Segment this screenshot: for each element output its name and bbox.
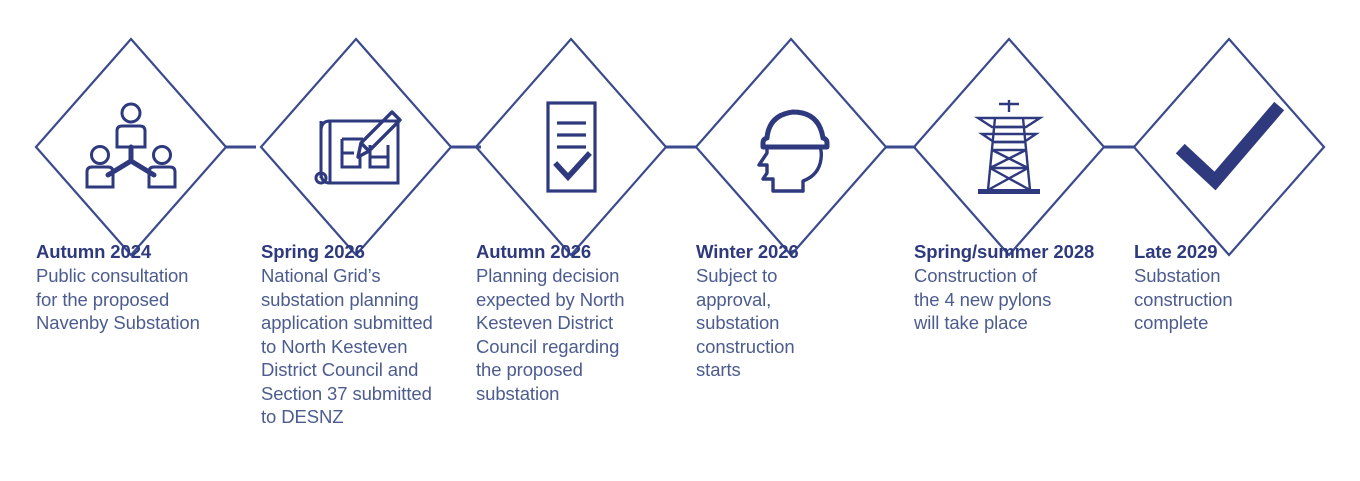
milestone-body: Subject to approval, substation construc… [696,264,896,382]
milestone-diamond [30,33,256,261]
timeline-milestone: Spring/summer 2028 Construction of the 4… [908,0,1134,481]
timeline-milestone: Spring 2026 National Grid’s substation p… [255,0,481,481]
milestone-text: Spring/summer 2028 Construction of the 4… [914,240,1114,335]
milestone-text: Late 2029 Substation construction comple… [1134,240,1334,335]
milestone-diamond [470,33,696,261]
milestone-heading: Autumn 2024 [36,240,236,263]
timeline-milestone: Winter 2026 Subject to approval, substat… [690,0,916,481]
milestone-diamond [1128,33,1354,261]
milestone-diamond [908,33,1134,261]
timeline-milestone: Late 2029 Substation construction comple… [1128,0,1354,481]
milestone-heading: Spring 2026 [261,240,461,263]
milestone-body: Planning decision expected by North Kest… [476,264,676,405]
hard-hat-head-icon [739,95,843,199]
people-consultation-icon [83,99,179,195]
milestone-diamond [255,33,481,261]
milestone-body: National Grid’s substation planning appl… [261,264,461,429]
milestone-diamond [690,33,916,261]
milestone-text: Spring 2026 National Grid’s substation p… [261,240,461,429]
timeline-milestone: Autumn 2024 Public consultation for the … [30,0,256,481]
milestone-body: Construction of the 4 new pylons will ta… [914,264,1114,335]
milestone-heading: Autumn 2026 [476,240,676,263]
milestone-body: Public consultation for the proposed Nav… [36,264,236,335]
milestone-text: Autumn 2024 Public consultation for the … [36,240,236,335]
milestone-text: Winter 2026 Subject to approval, substat… [696,240,896,382]
checkmark-icon [1171,97,1287,197]
document-check-icon [528,97,614,197]
milestone-text: Autumn 2026 Planning decision expected b… [476,240,676,405]
milestone-heading: Spring/summer 2028 [914,240,1114,263]
milestone-heading: Late 2029 [1134,240,1334,263]
blueprint-pencil-icon [308,99,408,195]
milestone-body: Substation construction complete [1134,264,1334,335]
electricity-pylon-icon [966,94,1052,200]
timeline-milestone: Autumn 2026 Planning decision expected b… [470,0,696,481]
project-timeline: Autumn 2024 Public consultation for the … [0,0,1360,481]
milestone-heading: Winter 2026 [696,240,896,263]
